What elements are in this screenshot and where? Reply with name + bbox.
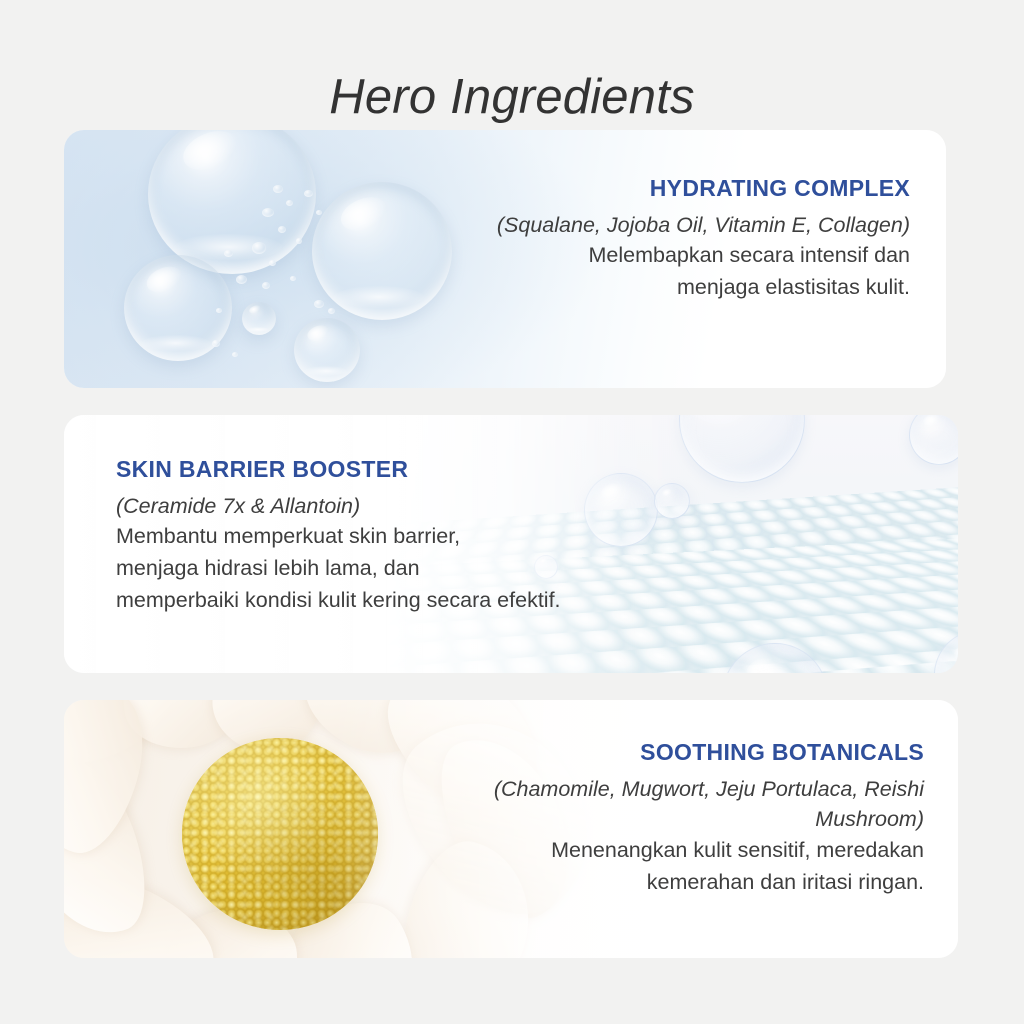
description-line: Melembapkan secara intensif dan [390,240,910,272]
ingredient-description: Membantu memperkuat skin barrier, menjag… [116,521,736,616]
ingredient-text-barrier: SKIN BARRIER BOOSTER (Ceramide 7x & Alla… [116,455,736,617]
description-line: Menenangkan kulit sensitif, meredakan [384,835,924,867]
subtitle-line: Jeju Portulaca, Reishi Mushroom) [716,777,924,832]
page-title: Hero Ingredients [0,71,1024,125]
ingredient-title: SKIN BARRIER BOOSTER [116,455,736,484]
ingredient-title: SOOTHING BOTANICALS [384,738,924,767]
description-line: menjaga hidrasi lebih lama, dan [116,553,736,585]
description-line: menjaga elastisitas kulit. [390,272,910,304]
ingredient-title: HYDRATING COMPLEX [390,174,910,203]
ingredient-card-barrier: SKIN BARRIER BOOSTER (Ceramide 7x & Alla… [64,415,958,673]
ingredient-subtitle: (Squalane, Jojoba Oil, Vitamin E, Collag… [390,210,910,241]
ingredient-card-hydrating: HYDRATING COMPLEX (Squalane, Jojoba Oil,… [64,130,946,388]
description-line: kemerahan dan iritasi ringan. [384,867,924,899]
ingredient-text-hydrating: HYDRATING COMPLEX (Squalane, Jojoba Oil,… [390,174,910,304]
ingredient-card-botanical: SOOTHING BOTANICALS (Chamomile, Mugwort,… [64,700,958,958]
ingredient-text-botanical: SOOTHING BOTANICALS (Chamomile, Mugwort,… [384,738,924,898]
ingredient-description: Melembapkan secara intensif dan menjaga … [390,240,910,304]
ingredient-subtitle: (Chamomile, Mugwort, Jeju Portulaca, Rei… [384,774,924,835]
ingredient-subtitle: (Ceramide 7x & Allantoin) [116,491,736,522]
ingredient-description: Menenangkan kulit sensitif, meredakan ke… [384,835,924,899]
description-line: memperbaiki kondisi kulit kering secara … [116,585,736,617]
subtitle-line: (Chamomile, Mugwort, [494,777,710,801]
description-line: Membantu memperkuat skin barrier, [116,521,736,553]
